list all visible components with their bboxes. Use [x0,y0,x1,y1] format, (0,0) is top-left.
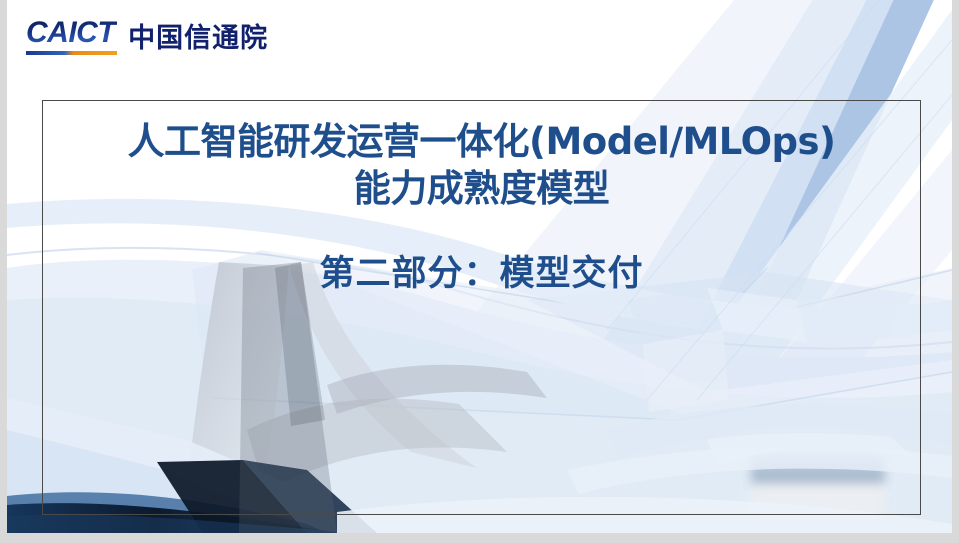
page-left-margin [0,0,7,543]
slide-subtitle: 第二部分：模型交付 [42,252,921,296]
caict-chinese-name: 中国信通院 [128,25,268,52]
presentation-slide: CAICT 中国信通院 人工智能研发运营一体化(Model/MLOps) 能力成… [7,0,952,533]
slide-title-line-1: 人工智能研发运营一体化(Model/MLOps) [42,118,921,165]
caict-logo-mark: CAICT [26,18,117,55]
page-bottom-margin [0,533,959,543]
slide-title-line-2: 能力成熟度模型 [42,165,921,212]
page-right-margin [952,0,959,543]
caict-logo: CAICT 中国信通院 [26,18,268,55]
caict-wordmark: CAICT [26,18,117,48]
caict-logo-underline-bar [26,51,117,55]
slide-text-block: 人工智能研发运营一体化(Model/MLOps) 能力成熟度模型 第二部分：模型… [42,118,921,296]
